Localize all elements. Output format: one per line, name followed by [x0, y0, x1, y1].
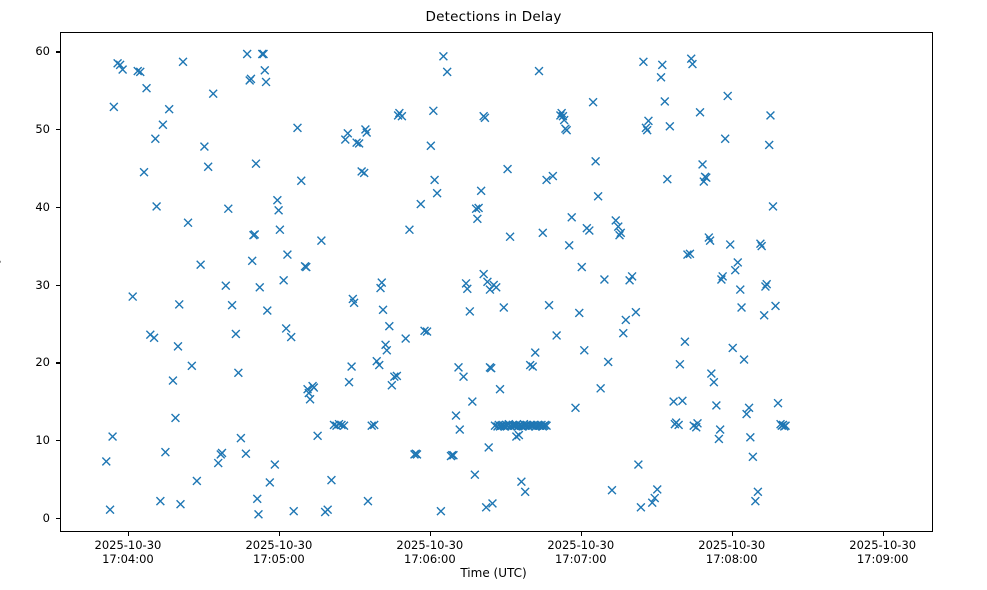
scatter-marker — [153, 202, 161, 210]
scatter-marker — [585, 227, 593, 235]
x-tick-label: 2025-10-3017:04:00 — [95, 538, 162, 566]
x-tick-label-date: 2025-10-30 — [396, 538, 463, 552]
scatter-marker — [294, 124, 302, 132]
scatter-marker — [575, 309, 583, 317]
scatter-marker — [110, 103, 118, 111]
y-axis-tick-marks — [0, 32, 60, 532]
scatter-marker — [324, 506, 332, 514]
scatter-marker — [471, 471, 479, 479]
scatter-marker — [726, 241, 734, 249]
scatter-marker — [653, 486, 661, 494]
scatter-marker — [402, 335, 410, 343]
scatter-marker — [689, 60, 697, 68]
scatter-marker — [738, 304, 746, 312]
scatter-marker — [568, 213, 576, 221]
scatter-marker — [102, 458, 110, 466]
scatter-marker — [287, 333, 295, 341]
scatter-marker — [242, 450, 250, 458]
scatter-marker — [696, 108, 704, 116]
scatter-marker — [282, 325, 290, 333]
scatter-marker — [535, 67, 543, 75]
scatter-marker — [232, 330, 240, 338]
scatter-marker — [634, 461, 642, 469]
scatter-marker — [417, 200, 425, 208]
scatter-marker — [214, 459, 222, 467]
scatter-marker — [666, 122, 674, 130]
scatter-marker — [197, 261, 205, 269]
x-tick-label: 2025-10-3017:09:00 — [849, 538, 916, 566]
scatter-marker — [188, 362, 196, 370]
scatter-marker — [678, 397, 686, 405]
x-tick-mark — [128, 532, 129, 536]
scatter-marker — [314, 432, 322, 440]
scatter-marker — [109, 433, 117, 441]
scatter-marker — [468, 398, 476, 406]
x-tick-label-date: 2025-10-30 — [547, 538, 614, 552]
scatter-marker — [388, 381, 396, 389]
scatter-marker — [645, 117, 653, 125]
scatter-marker — [224, 205, 232, 213]
scatter-marker — [729, 344, 737, 352]
scatter-data-layer — [61, 33, 932, 531]
x-tick-label-time: 17:07:00 — [547, 552, 614, 566]
scatter-marker — [658, 61, 666, 69]
x-tick-label: 2025-10-3017:05:00 — [245, 538, 312, 566]
scatter-marker — [710, 378, 718, 386]
scatter-marker — [769, 202, 777, 210]
scatter-marker — [297, 177, 305, 185]
scatter-marker — [129, 293, 137, 301]
x-tick-label-date: 2025-10-30 — [849, 538, 916, 552]
x-tick-label: 2025-10-3017:06:00 — [396, 538, 463, 566]
scatter-marker — [193, 477, 201, 485]
x-tick-mark — [732, 532, 733, 536]
scatter-marker — [348, 363, 356, 371]
x-tick-label-time: 17:06:00 — [396, 552, 463, 566]
scatter-marker — [592, 157, 600, 165]
scatter-marker — [721, 135, 729, 143]
scatter-marker — [375, 361, 383, 369]
scatter-marker — [746, 433, 754, 441]
scatter-marker — [258, 50, 266, 58]
scatter-marker — [317, 237, 325, 245]
scatter-marker — [385, 322, 393, 330]
scatter-marker — [545, 301, 553, 309]
scatter-marker — [608, 486, 616, 494]
scatter-marker — [204, 163, 212, 171]
scatter-marker — [767, 111, 775, 119]
scatter-marker — [628, 272, 636, 280]
scatter-marker — [477, 187, 485, 195]
scatter-marker — [485, 444, 493, 452]
scatter-marker — [619, 329, 627, 337]
scatter-marker — [266, 479, 274, 487]
scatter-marker — [597, 384, 605, 392]
scatter-marker — [248, 257, 256, 265]
plot-axes-frame — [60, 32, 933, 532]
scatter-marker — [159, 121, 167, 129]
scatter-marker — [517, 478, 525, 486]
scatter-marker — [260, 50, 268, 58]
scatter-marker — [383, 346, 391, 354]
scatter-marker — [504, 165, 512, 173]
scatter-marker — [427, 142, 435, 150]
scatter-series — [61, 33, 932, 531]
x-tick-label-date: 2025-10-30 — [245, 538, 312, 552]
scatter-marker — [553, 332, 561, 340]
scatter-marker — [715, 435, 723, 443]
figure-canvas: Detections in Delay Bistatic Delay (km) … — [0, 0, 987, 590]
scatter-marker — [306, 395, 314, 403]
scatter-marker — [271, 461, 279, 469]
scatter-marker — [754, 488, 762, 496]
scatter-marker — [492, 283, 500, 291]
x-tick-label-time: 17:04:00 — [95, 552, 162, 566]
scatter-marker — [429, 107, 437, 115]
scatter-marker — [439, 52, 447, 60]
scatter-marker — [156, 497, 164, 505]
scatter-marker — [379, 306, 387, 314]
scatter-marker — [736, 286, 744, 294]
scatter-marker — [760, 311, 768, 319]
scatter-marker — [151, 135, 159, 143]
scatter-marker — [765, 141, 773, 149]
scatter-marker — [661, 97, 669, 105]
scatter-marker — [378, 279, 386, 287]
scatter-marker — [328, 476, 336, 484]
scatter-marker — [594, 192, 602, 200]
scatter-marker — [460, 373, 468, 381]
scatter-marker — [637, 503, 645, 511]
scatter-marker — [480, 270, 488, 278]
scatter-marker — [283, 251, 291, 259]
scatter-marker — [161, 448, 169, 456]
scatter-marker — [681, 338, 689, 346]
scatter-marker — [433, 189, 441, 197]
scatter-marker — [473, 215, 481, 223]
x-tick-mark — [883, 532, 884, 536]
x-tick-mark — [430, 532, 431, 536]
scatter-marker — [263, 307, 271, 315]
x-axis-tick-labels: 2025-10-3017:04:002025-10-3017:05:002025… — [0, 538, 987, 572]
scatter-marker — [443, 68, 451, 76]
scatter-marker — [172, 414, 180, 422]
scatter-marker — [275, 206, 283, 214]
scatter-marker — [228, 301, 236, 309]
scatter-marker — [143, 84, 151, 92]
scatter-marker — [237, 434, 245, 442]
scatter-marker — [749, 453, 757, 461]
scatter-marker — [169, 377, 177, 385]
scatter-marker — [177, 500, 185, 508]
scatter-marker — [253, 495, 261, 503]
scatter-marker — [405, 226, 413, 234]
scatter-marker — [261, 66, 269, 74]
scatter-marker — [670, 398, 678, 406]
x-tick-label-time: 17:09:00 — [849, 552, 916, 566]
scatter-marker — [140, 168, 148, 176]
scatter-marker — [565, 241, 573, 249]
scatter-marker — [539, 229, 547, 237]
x-tick-label-date: 2025-10-30 — [95, 538, 162, 552]
scatter-marker — [431, 176, 439, 184]
scatter-marker — [687, 55, 695, 63]
scatter-marker — [774, 399, 782, 407]
page-title: Detections in Delay — [0, 9, 987, 25]
scatter-marker — [751, 497, 759, 505]
scatter-marker — [290, 507, 298, 515]
scatter-marker — [772, 302, 780, 310]
scatter-marker — [262, 78, 270, 86]
scatter-marker — [716, 426, 724, 434]
scatter-marker — [243, 50, 251, 58]
scatter-marker — [521, 488, 529, 496]
scatter-marker — [165, 105, 173, 113]
scatter-marker — [276, 226, 284, 234]
scatter-marker — [657, 73, 665, 81]
x-tick-label-date: 2025-10-30 — [698, 538, 765, 552]
scatter-marker — [699, 160, 707, 168]
scatter-marker — [256, 283, 264, 291]
scatter-marker — [462, 279, 470, 287]
scatter-marker — [179, 58, 187, 66]
scatter-marker — [632, 308, 640, 316]
scatter-marker — [712, 402, 720, 410]
scatter-marker — [496, 385, 504, 393]
scatter-marker — [731, 266, 739, 274]
scatter-marker — [463, 285, 471, 293]
scatter-marker — [600, 276, 608, 284]
scatter-marker — [589, 98, 597, 106]
scatter-marker — [531, 349, 539, 357]
scatter-marker — [500, 304, 508, 312]
scatter-marker — [456, 426, 464, 434]
x-tick-mark — [279, 532, 280, 536]
scatter-marker — [364, 497, 372, 505]
scatter-marker — [437, 507, 445, 515]
scatter-marker — [639, 58, 647, 66]
scatter-marker — [234, 369, 242, 377]
scatter-marker — [740, 356, 748, 364]
scatter-marker — [222, 282, 230, 290]
scatter-marker — [724, 92, 732, 100]
scatter-marker — [466, 307, 474, 315]
scatter-marker — [515, 431, 523, 439]
scatter-marker — [360, 169, 368, 177]
scatter-marker — [707, 370, 715, 378]
scatter-marker — [676, 360, 684, 368]
scatter-marker — [200, 143, 208, 151]
x-tick-mark — [581, 532, 582, 536]
scatter-marker — [455, 363, 463, 371]
scatter-marker — [663, 175, 671, 183]
x-tick-label: 2025-10-3017:07:00 — [547, 538, 614, 566]
scatter-marker — [252, 160, 260, 168]
x-tick-label-time: 17:08:00 — [698, 552, 765, 566]
scatter-marker — [174, 342, 182, 350]
scatter-marker — [529, 363, 537, 371]
scatter-marker — [345, 378, 353, 386]
scatter-marker — [150, 334, 158, 342]
x-tick-label: 2025-10-3017:08:00 — [698, 538, 765, 566]
scatter-marker — [604, 358, 612, 366]
scatter-marker — [184, 219, 192, 227]
scatter-marker — [734, 258, 742, 266]
scatter-marker — [622, 316, 630, 324]
scatter-marker — [506, 233, 514, 241]
scatter-marker — [255, 510, 263, 518]
scatter-marker — [452, 412, 460, 420]
x-tick-label-time: 17:05:00 — [245, 552, 312, 566]
scatter-marker — [382, 341, 390, 349]
scatter-marker — [209, 90, 217, 98]
scatter-marker — [175, 300, 183, 308]
scatter-marker — [273, 196, 281, 204]
scatter-marker — [572, 404, 580, 412]
scatter-marker — [580, 346, 588, 354]
scatter-marker — [106, 506, 114, 514]
scatter-marker — [280, 276, 288, 284]
scatter-marker — [578, 263, 586, 271]
scatter-marker — [377, 284, 385, 292]
